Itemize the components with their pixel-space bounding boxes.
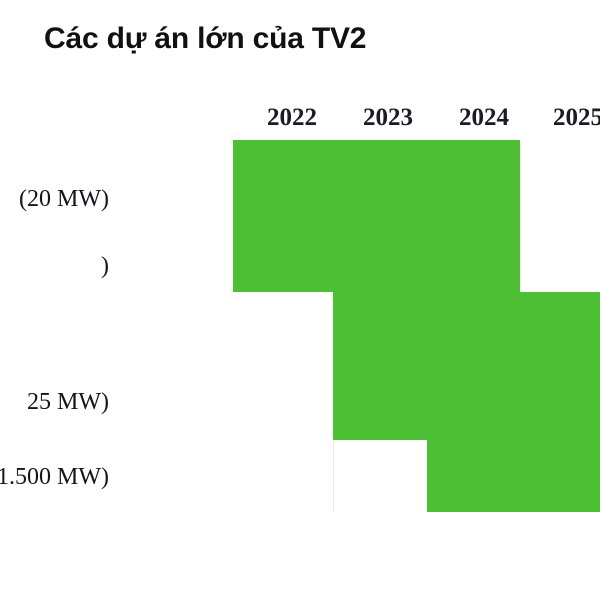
gantt-bar-row-3[interactable] — [427, 292, 600, 440]
gantt-bar-row-1[interactable] — [233, 143, 520, 292]
gantt-bar-row-4[interactable] — [427, 440, 600, 512]
gantt-chart-root: Các dự án lớn của TV2 2022 2023 2024 202… — [0, 0, 600, 600]
gantt-bar-row-2[interactable] — [333, 292, 427, 440]
plot-area — [0, 0, 600, 600]
